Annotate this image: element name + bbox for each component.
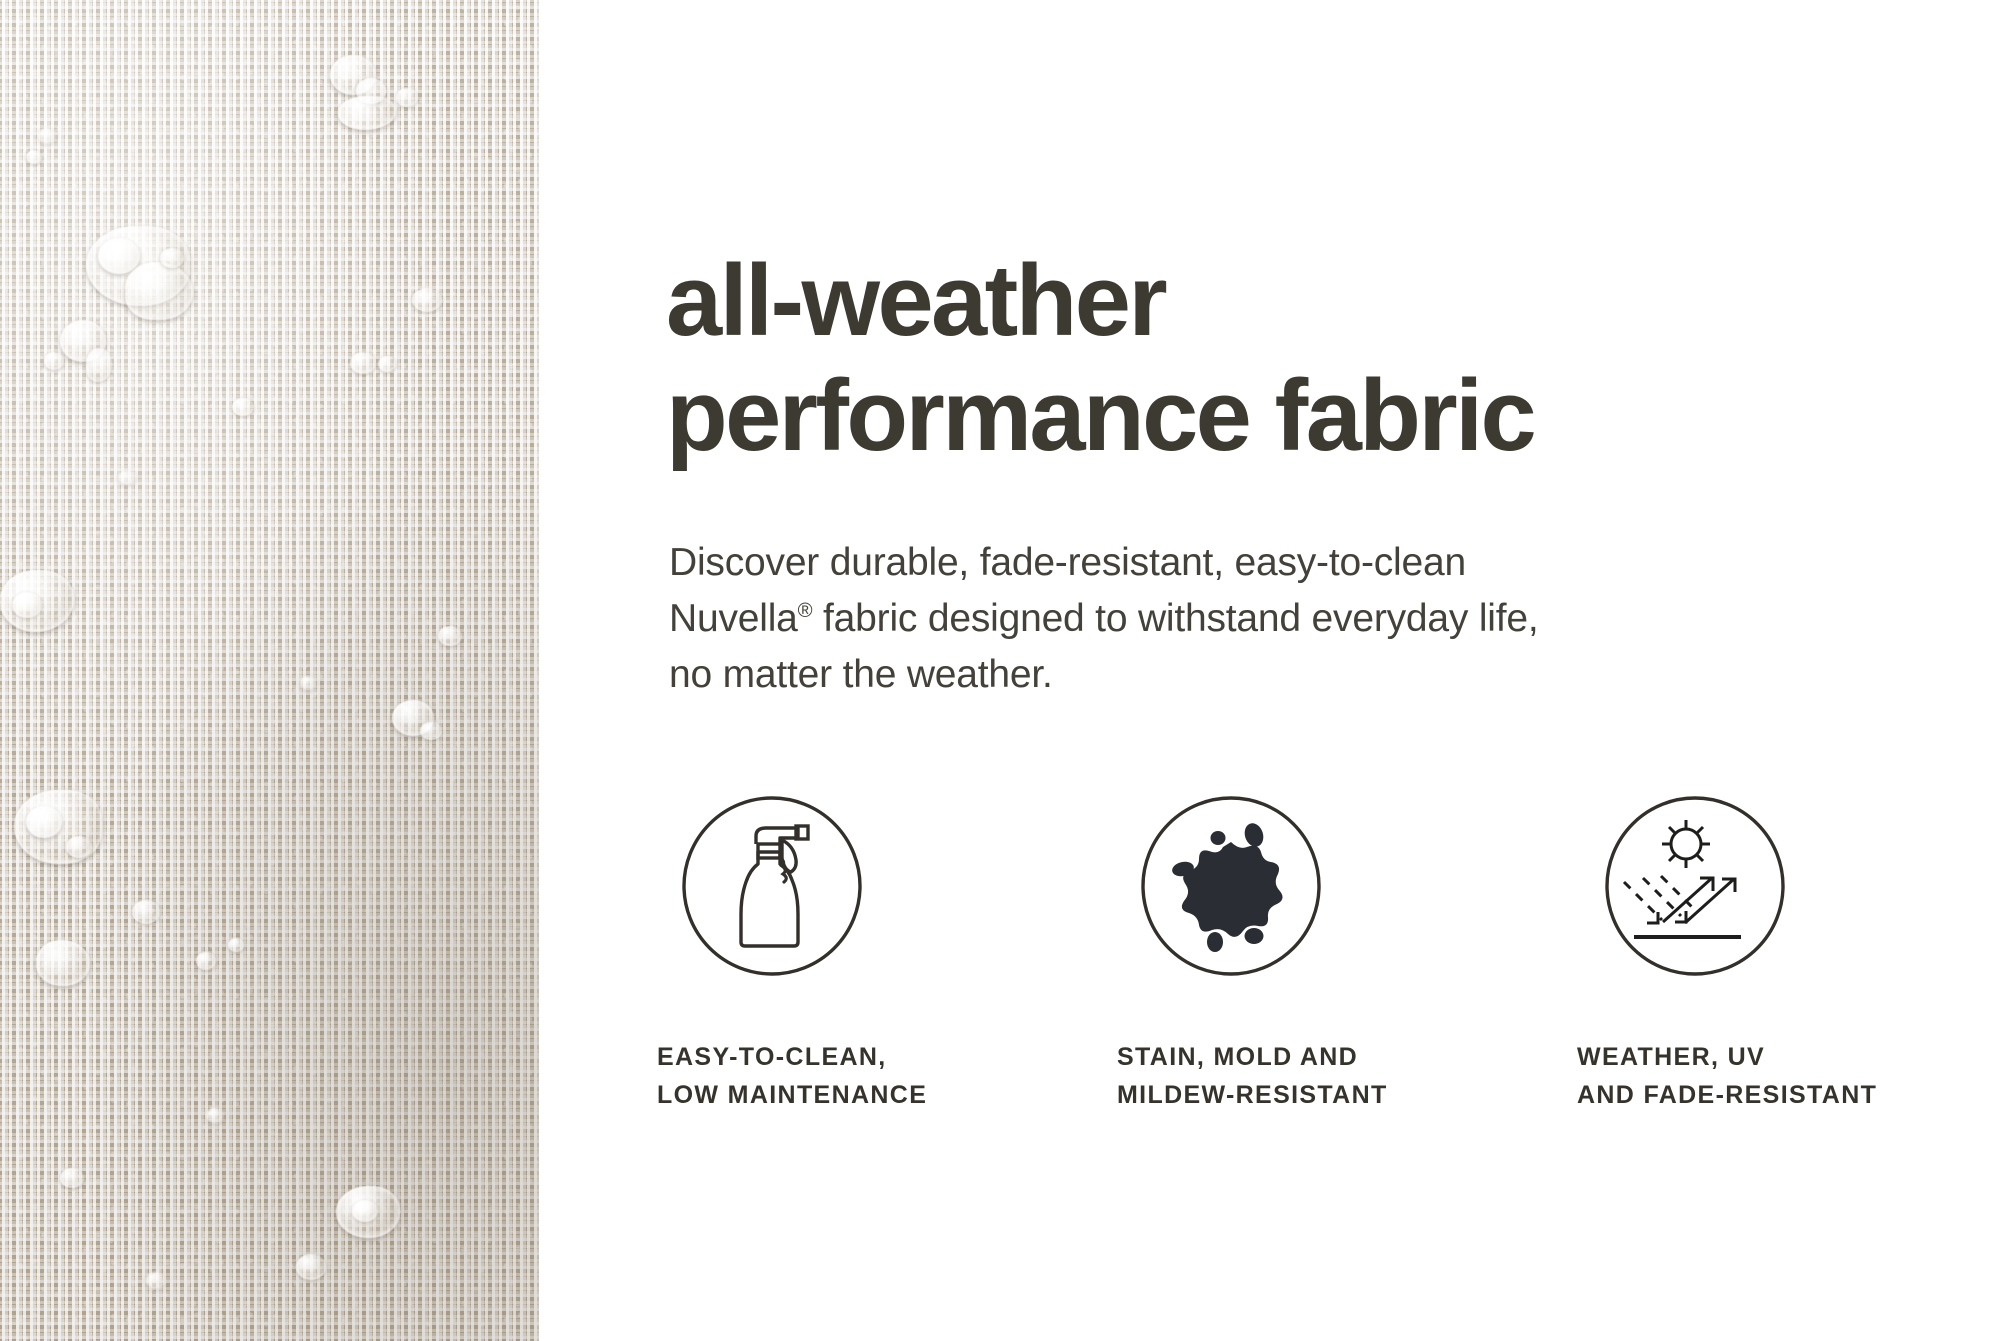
water-droplet — [146, 1272, 166, 1289]
sun-uv-fade-icon — [1599, 790, 1791, 982]
feature-caption-line-2: AND FADE-RESISTANT — [1577, 1077, 1877, 1115]
registered-trademark-icon: ® — [798, 600, 813, 622]
water-droplet — [438, 626, 462, 646]
spray-bottle-icon — [676, 790, 868, 982]
feature-caption: EASY-TO-CLEAN, LOW MAINTENANCE — [657, 1039, 927, 1114]
water-droplet — [125, 262, 193, 320]
water-droplet — [44, 352, 64, 370]
content-panel: all-weather performance fabric Discover … — [539, 0, 2010, 1341]
water-droplet — [38, 128, 56, 144]
water-droplet — [232, 398, 254, 416]
feature-caption: WEATHER, UV AND FADE-RESISTANT — [1577, 1039, 1877, 1114]
feature-caption: STAIN, MOLD AND MILDEW-RESISTANT — [1117, 1039, 1388, 1114]
water-droplet — [12, 592, 42, 618]
stain-splat-icon — [1135, 790, 1327, 982]
subcopy-line-1: Discover durable, fade-resistant, easy-t… — [669, 535, 1669, 591]
feature-caption-line-1: WEATHER, UV — [1577, 1039, 1877, 1077]
water-droplet — [66, 836, 92, 858]
water-droplet — [206, 1108, 224, 1123]
feature-caption-line-1: EASY-TO-CLEAN, — [657, 1039, 927, 1077]
feature-caption-line-2: LOW MAINTENANCE — [657, 1077, 927, 1115]
water-droplet — [352, 1200, 378, 1222]
water-droplet — [60, 1168, 84, 1188]
page-title: all-weather performance fabric — [666, 244, 2010, 474]
feature-stain-mold-mildew: STAIN, MOLD AND MILDEW-RESISTANT — [1117, 790, 1577, 1114]
feature-weather-uv-fade: WEATHER, UV AND FADE-RESISTANT — [1577, 790, 2010, 1114]
fabric-water-beading-photo — [0, 0, 539, 1341]
water-droplet — [132, 900, 160, 924]
feature-easy-to-clean: EASY-TO-CLEAN, LOW MAINTENANCE — [657, 790, 1117, 1114]
subcopy-line-3: no matter the weather. — [669, 647, 1669, 703]
water-droplet — [228, 938, 244, 952]
water-droplet — [26, 150, 42, 164]
water-droplet — [196, 952, 216, 970]
water-droplet — [36, 940, 90, 986]
water-droplet — [26, 806, 62, 838]
water-droplet — [350, 352, 376, 374]
feature-caption-line-1: STAIN, MOLD AND — [1117, 1039, 1388, 1077]
water-droplet — [412, 288, 442, 312]
fabric-lighting-gradient — [0, 0, 539, 1341]
water-droplet — [396, 88, 418, 107]
feature-caption-line-2: MILDEW-RESISTANT — [1117, 1077, 1388, 1115]
water-droplet — [300, 676, 316, 690]
water-droplet — [118, 470, 136, 485]
brand-name: Nuvella — [669, 597, 798, 640]
water-droplet — [296, 1254, 326, 1280]
water-droplet — [420, 722, 442, 740]
feature-list: EASY-TO-CLEAN, LOW MAINTENANCE — [657, 790, 1987, 1114]
water-droplet — [160, 248, 184, 268]
water-droplet — [378, 356, 396, 372]
headline-line-1: all-weather — [666, 244, 2010, 359]
headline-line-2: performance fabric — [666, 359, 2010, 474]
subcopy-line-2: Nuvella® fabric designed to withstand ev… — [669, 591, 1669, 647]
all-weather-fabric-banner: all-weather performance fabric Discover … — [0, 0, 2010, 1341]
subcopy-line-2-rest: fabric designed to withstand everyday li… — [812, 597, 1538, 640]
subcopy: Discover durable, fade-resistant, easy-t… — [669, 535, 1669, 702]
